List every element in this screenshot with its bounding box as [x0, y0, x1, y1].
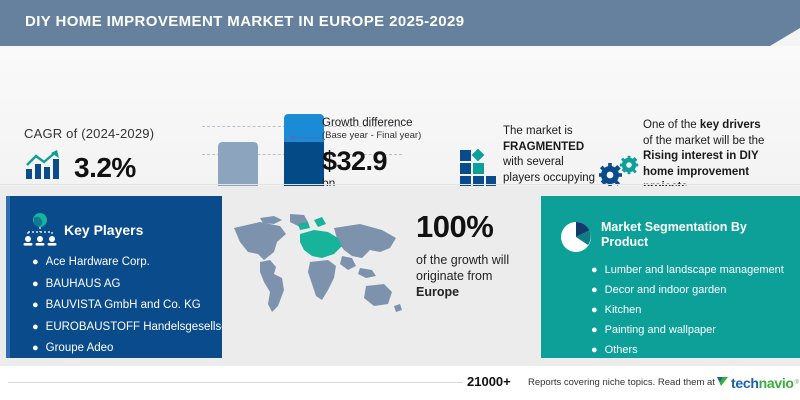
world-map-icon	[230, 212, 410, 327]
bullet-icon: ●	[591, 304, 598, 316]
technavio-logo[interactable]: tech navio ®	[716, 374, 799, 392]
list-item: ● Ace Hardware Corp.	[32, 256, 222, 269]
logo-text-tech: tech	[731, 375, 759, 391]
region-desc-line1: of the growth will	[416, 253, 509, 267]
list-item: ● Painting and wallpaper	[591, 324, 800, 336]
key-players-list: ● Ace Hardware Corp. ● BAUHAUS AG ● BAUV…	[32, 256, 222, 358]
list-item: ● Groupe Adeo	[32, 342, 222, 355]
fragmented-line1: The market is	[503, 125, 573, 137]
segmentation-panel: Market Segmentation By Product ● Lumber …	[541, 196, 800, 358]
top-stats-strip: CAGR of (2024-2029) 3.2%	[0, 46, 800, 185]
fragmented-bold: FRAGMENTED	[503, 141, 584, 153]
list-item: ● Kitchen	[591, 304, 800, 316]
fragmented-line3: players occupying	[503, 172, 595, 184]
list-item: ● BAUVISTA GmbH and Co. KG	[32, 299, 222, 312]
segmentation-title: Market Segmentation By Product	[601, 220, 791, 250]
growth-difference-callout: Growth difference (Base year - Final yea…	[322, 116, 482, 190]
region-description: of the growth will originate from Europe	[416, 252, 536, 300]
report-count: 21000+	[467, 374, 511, 389]
region-panel: 100% of the growth will originate from E…	[230, 192, 530, 362]
driver-bold1: key drivers	[700, 119, 761, 131]
segmentation-list: ● Lumber and landscape management ● Deco…	[591, 264, 800, 358]
bullet-icon: ●	[32, 342, 39, 355]
footer-tagline: Reports covering niche topics. Read them…	[528, 377, 715, 388]
region-name: Europe	[416, 285, 459, 299]
growth-value: $32.9	[322, 146, 482, 176]
footer-divider	[8, 382, 463, 383]
pie-chart-icon	[557, 218, 595, 261]
callout-arrow-icon	[288, 130, 322, 140]
panel-accent-bar	[6, 196, 10, 358]
technavio-mark-icon	[716, 374, 731, 392]
logo-text-navio: navio	[759, 375, 794, 391]
growth-callout-subtitle: (Base year - Final year)	[322, 130, 482, 142]
list-item: ● Lumber and landscape management	[591, 264, 800, 276]
infographic-root: DIY HOME IMPROVEMENT MARKET IN EUROPE 20…	[0, 0, 800, 400]
bar-2029	[284, 114, 324, 196]
bullet-icon: ●	[591, 284, 598, 296]
growth-callout-title: Growth difference	[322, 116, 482, 130]
region-desc-line2: originate from	[416, 269, 492, 283]
list-item: ● BAUHAUS AG	[32, 278, 222, 291]
region-percent: 100%	[416, 210, 536, 244]
bullet-icon: ●	[591, 344, 598, 356]
bullet-icon: ●	[32, 299, 39, 312]
key-players-panel: Key Players ● Ace Hardware Corp. ● BAUHA…	[6, 196, 222, 358]
driver-line2: of the market will be the	[643, 135, 764, 147]
footer: 21000+ Reports covering niche topics. Re…	[0, 366, 800, 400]
list-item: ● Others	[591, 344, 800, 356]
bullet-icon: ●	[32, 321, 39, 334]
region-stat: 100% of the growth will originate from E…	[416, 210, 536, 300]
key-players-title: Key Players	[64, 222, 143, 238]
driver-line1: One of the	[643, 119, 700, 131]
globe-network-icon	[20, 212, 60, 255]
header-banner: DIY HOME IMPROVEMENT MARKET IN EUROPE 20…	[0, 0, 800, 46]
cagr-value: 3.2%	[74, 152, 136, 184]
logo-registered-mark: ®	[795, 380, 799, 386]
key-driver-fact: One of the key drivers of the market wil…	[643, 118, 788, 196]
list-item: ● EUROBAUSTOFF Handelsgesellschaft	[32, 321, 222, 334]
bullet-icon: ●	[591, 324, 598, 336]
fragmented-line2: with several	[503, 156, 564, 168]
bar-chart-growth-icon	[24, 149, 64, 186]
cagr-label: CAGR of (2024-2029)	[24, 126, 154, 141]
bullet-icon: ●	[591, 264, 598, 276]
list-item: ● Decor and indoor garden	[591, 284, 800, 296]
bullet-icon: ●	[32, 278, 39, 291]
cagr-block: CAGR of (2024-2029) 3.2%	[24, 126, 154, 186]
page-title: DIY HOME IMPROVEMENT MARKET IN EUROPE 20…	[25, 13, 464, 30]
bullet-icon: ●	[32, 256, 39, 269]
